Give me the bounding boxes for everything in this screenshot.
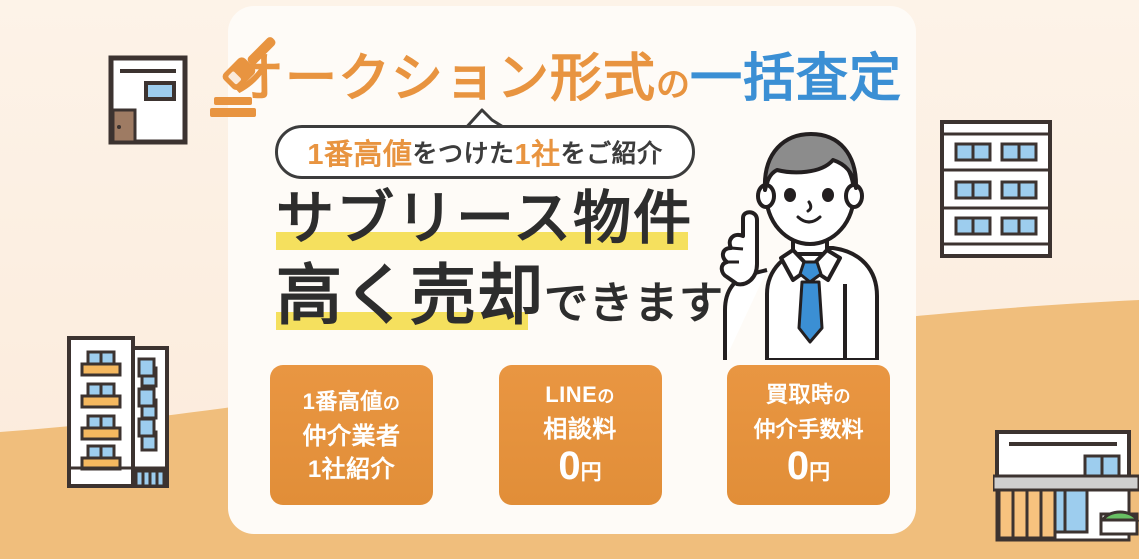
box3-line1-suffix: の [834,387,852,406]
box3-zero: 0 [787,446,809,486]
bubble-dark-2: をご紹介 [561,134,663,170]
headline-particle-text: の [656,66,690,104]
box1-line2: 仲介業者 [303,420,401,453]
window-column-icon [134,355,160,465]
box2-line1-main: LINE [545,382,597,407]
box3-line1-main: 買取時 [766,382,834,407]
box2-line2: 相談料 [543,413,617,446]
bubble-accent-2: 1社 [515,131,561,173]
box1-line1-main: 1番高値 [303,389,383,414]
slogan-line-1-text: サブリース物件 [276,186,693,251]
slogan-line-2-emphasis: 高く売却 [276,258,544,332]
slogan-line-2-suffix: できます [544,279,724,328]
speech-bubble: 1番高値をつけた1社をご紹介 [275,125,695,179]
headline: オークション形式の一括査定 [232,36,912,102]
house-facade-icon [108,55,188,145]
feature-boxes: 1番高値の 仲介業者 1社紹介 LINEの 相談料 0円 買取時の 仲介手数料 … [270,365,890,505]
bubble-accent-1: 1番高値 [307,131,412,173]
headline-blue-text: 一括査定 [690,50,902,108]
box-line-consultation-fee[interactable]: LINEの 相談料 0円 [499,365,662,505]
box2-yen: 円 [581,453,602,493]
headline-orange-text: オークション形式 [232,50,656,108]
box2-line1-suffix: の [597,387,615,406]
storefront-building-icon [993,428,1139,544]
box1-line3: 1社紹介 [308,453,395,486]
box2-line3: 0円 [558,446,601,493]
box1-line1-suffix: の [383,394,401,413]
box3-line3: 0円 [787,446,830,493]
box2-zero: 0 [558,446,580,486]
box3-line2: 仲介手数料 [753,413,863,446]
box2-line1: LINEの [545,379,615,413]
box3-line1: 買取時の [766,379,851,413]
three-story-building-icon [938,118,1054,260]
box3-yen: 円 [809,453,830,493]
box1-line1: 1番高値の [303,386,401,420]
promo-banner: オークション形式の一括査定 1番高値をつけた1社をご紹介 サブリース物件 高く売… [0,0,1139,559]
bubble-dark-1: をつけた [412,134,514,170]
box-top-price-agent[interactable]: 1番高値の 仲介業者 1社紹介 [270,365,433,505]
businessman-pointing-illustration [705,112,915,360]
box-purchase-brokerage-fee[interactable]: 買取時の 仲介手数料 0円 [727,365,890,505]
